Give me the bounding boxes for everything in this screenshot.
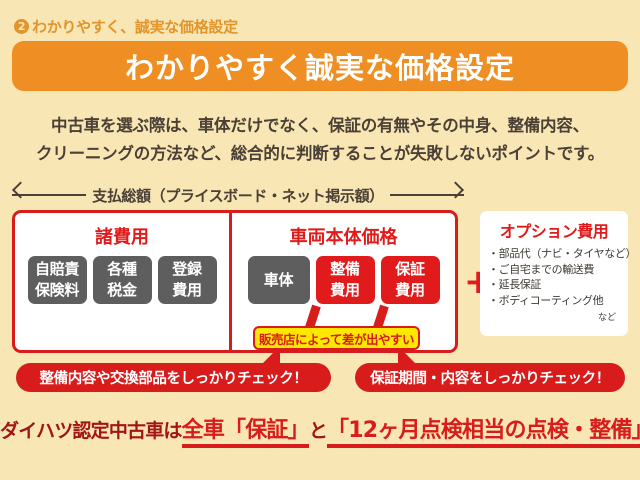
lead-line-2: クリーニングの方法など、総合的に判断することが失敗しないポイントです。 bbox=[0, 140, 640, 168]
vehicle-chip-row: 車体 整備 費用 保証 費用 bbox=[248, 256, 440, 304]
vehicle-chip-warranty-fee: 保証 費用 bbox=[381, 256, 440, 304]
bottom-summary-emphasis-warranty: 全車「保証」 bbox=[182, 418, 309, 448]
infographic-page: 2 わかりやすく、誠実な価格設定 わかりやすく誠実な価格設定 中古車を選ぶ際は、… bbox=[0, 0, 640, 480]
option-cost-title: オプション費用 bbox=[488, 218, 620, 242]
dealer-difference-callout: 販売店によって差が出やすい bbox=[253, 326, 420, 350]
headline-banner: わかりやすく誠実な価格設定 bbox=[12, 41, 628, 91]
total-price-arrow-row: 支払総額（プライスボード・ネット掲示額） bbox=[12, 184, 464, 206]
headline-banner-title: わかりやすく誠実な価格設定 bbox=[125, 45, 515, 87]
list-item: ・部品代（ナビ・タイヤなど） bbox=[488, 246, 620, 262]
fees-column-title: 諸費用 bbox=[95, 223, 149, 249]
list-item: ・延長保証 bbox=[488, 277, 620, 293]
section-eyebrow-label: わかりやすく、誠実な価格設定 bbox=[32, 16, 238, 37]
lead-line-1: 中古車を選ぶ際は、車体だけでなく、保証の有無やその中身、整備内容、 bbox=[0, 112, 640, 140]
fees-column: 諸費用 自賠責 保険料 各種 税金 登録 費用 bbox=[15, 213, 232, 350]
dealer-difference-callout-text: 販売店によって差が出やすい bbox=[259, 329, 414, 348]
fees-chip-row: 自賠責 保険料 各種 税金 登録 費用 bbox=[28, 256, 217, 304]
option-cost-suffix: など bbox=[488, 310, 620, 323]
chip-line-top: 車体 bbox=[264, 270, 293, 291]
fee-chip-taxes: 各種 税金 bbox=[93, 256, 152, 304]
chip-line-bottom: 費用 bbox=[395, 280, 424, 301]
bottom-summary-emphasis-inspection: 「12ヶ月点検相当の点検・整備」 bbox=[327, 418, 640, 448]
vehicle-price-column-title: 車両本体価格 bbox=[290, 223, 398, 249]
vehicle-chip-maintenance-fee: 整備 費用 bbox=[316, 256, 375, 304]
total-price-label: 支払総額（プライスボード・ネット掲示額） bbox=[92, 185, 384, 206]
fee-chip-compulsory-insurance: 自賠責 保険料 bbox=[28, 256, 87, 304]
chip-line-bottom: 費用 bbox=[172, 280, 201, 301]
chip-line-top: 各種 bbox=[107, 259, 136, 280]
arrow-right-icon bbox=[390, 194, 464, 196]
list-item: ・ご自宅までの輸送費 bbox=[488, 262, 620, 278]
chip-line-bottom: 費用 bbox=[330, 280, 359, 301]
check-pill-warranty-text: 保証期間・内容をしっかりチェック！ bbox=[370, 367, 610, 388]
check-pill-maintenance-text: 整備内容や交換部品をしっかりチェック！ bbox=[40, 367, 308, 388]
chip-line-bottom: 税金 bbox=[107, 280, 136, 301]
bottom-summary-conjunction: と bbox=[309, 420, 327, 442]
chip-line-top: 登録 bbox=[172, 259, 201, 280]
vehicle-chip-body: 車体 bbox=[248, 256, 310, 304]
option-cost-list: ・部品代（ナビ・タイヤなど） ・ご自宅までの輸送費 ・延長保証 ・ボディコーティ… bbox=[488, 246, 620, 308]
bottom-summary-prefix: ダイハツ認定中古車は bbox=[0, 420, 182, 442]
chip-line-top: 整備 bbox=[330, 259, 359, 280]
section-number-badge: 2 bbox=[14, 19, 29, 34]
bottom-summary-line: ダイハツ認定中古車は全車「保証」と「12ヶ月点検相当の点検・整備」付き bbox=[0, 412, 640, 444]
chip-line-top: 自賠責 bbox=[35, 259, 79, 280]
chip-line-top: 保証 bbox=[395, 259, 424, 280]
check-pill-maintenance: 整備内容や交換部品をしっかりチェック！ bbox=[16, 363, 331, 392]
lead-paragraph: 中古車を選ぶ際は、車体だけでなく、保証の有無やその中身、整備内容、 クリーニング… bbox=[0, 112, 640, 168]
arrow-left-icon bbox=[12, 194, 86, 196]
chip-line-bottom: 保険料 bbox=[35, 280, 79, 301]
fee-chip-registration: 登録 費用 bbox=[158, 256, 217, 304]
section-eyebrow: 2 わかりやすく、誠実な価格設定 bbox=[14, 16, 238, 37]
check-pill-warranty: 保証期間・内容をしっかりチェック！ bbox=[355, 363, 625, 392]
list-item: ・ボディコーティング他 bbox=[488, 293, 620, 309]
option-cost-box: オプション費用 ・部品代（ナビ・タイヤなど） ・ご自宅までの輸送費 ・延長保証 … bbox=[480, 211, 628, 336]
